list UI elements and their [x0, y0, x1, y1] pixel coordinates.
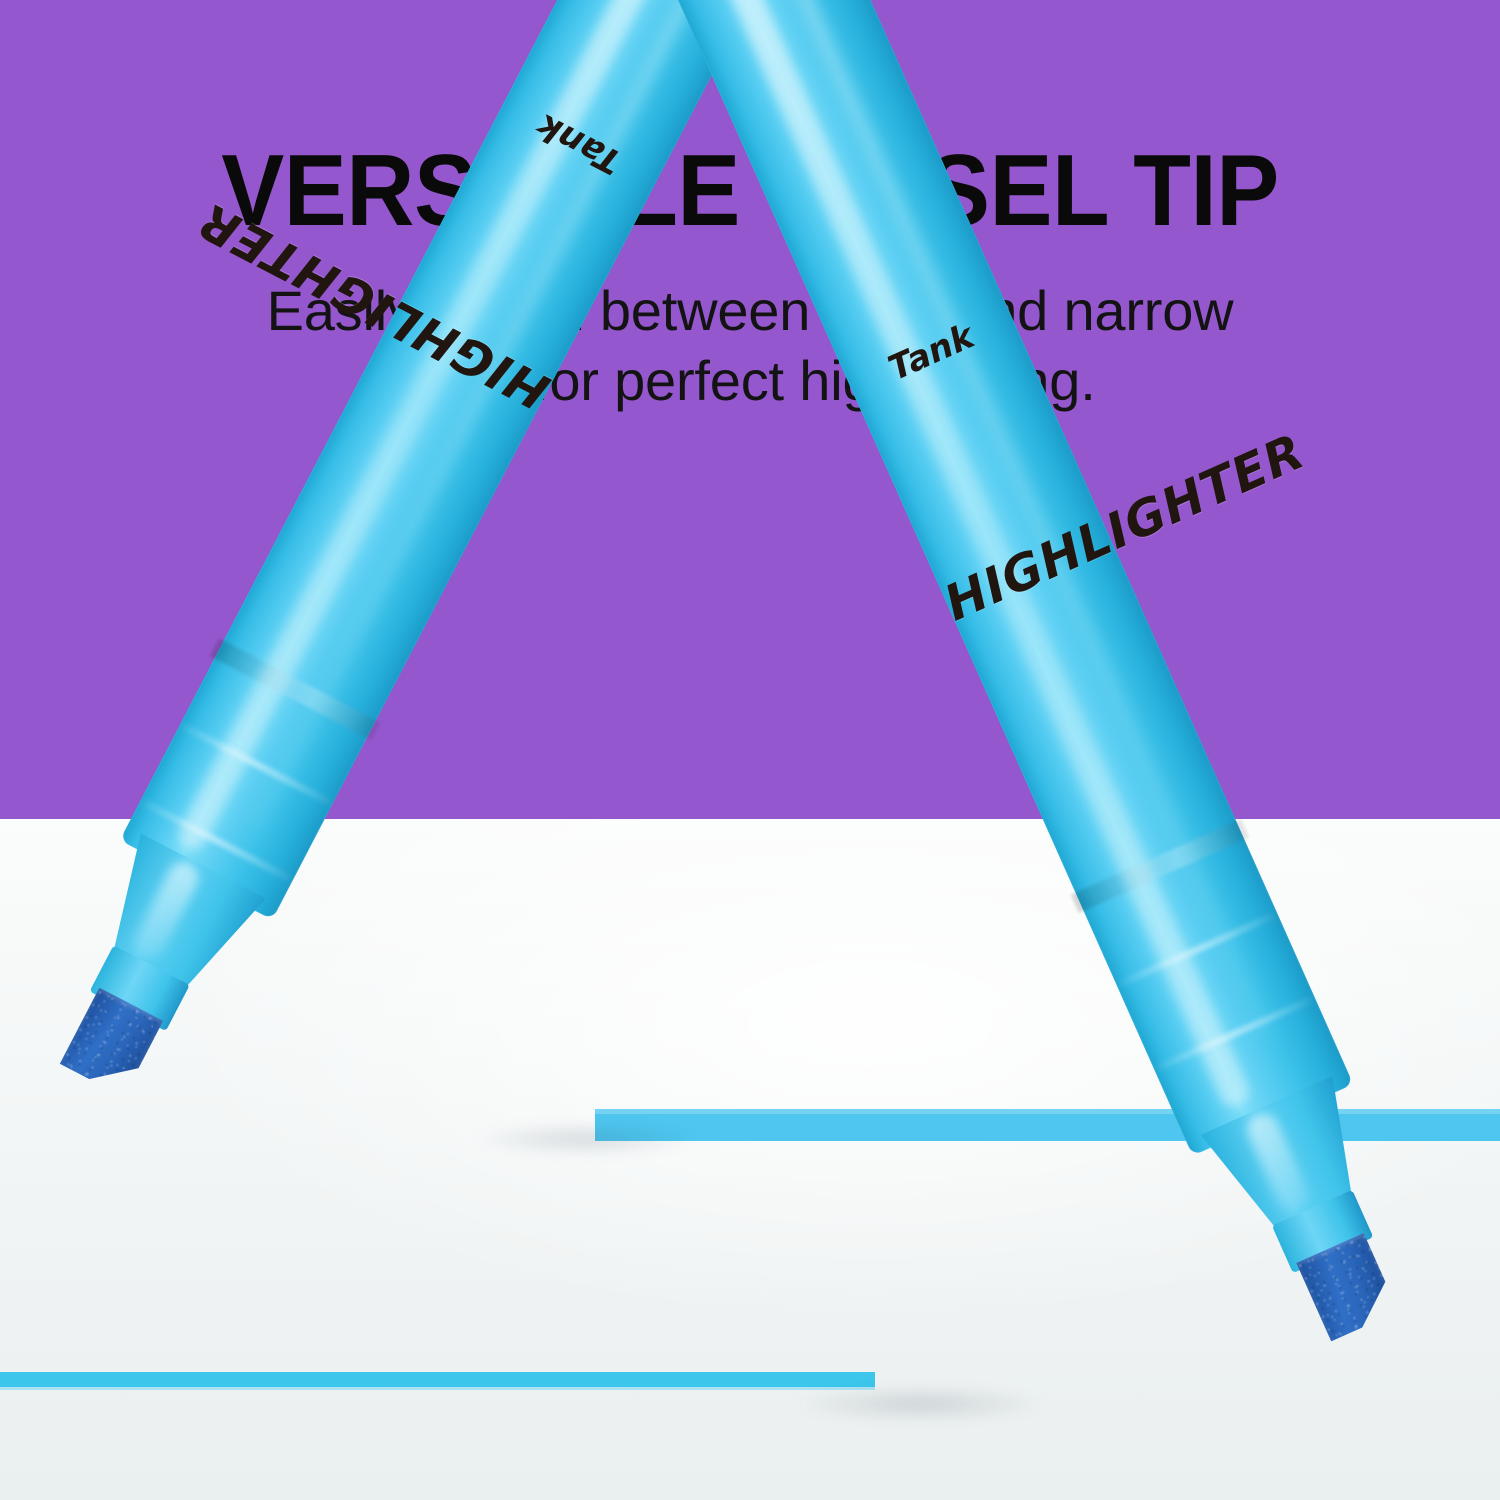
right-nib-shadow — [790, 1386, 1050, 1422]
wide-highlight-stroke — [595, 1109, 1500, 1141]
narrow-highlight-stroke — [0, 1372, 875, 1387]
left-nib-shadow — [470, 1122, 700, 1156]
product-feature-image: VERSATILE CHISEL TIP Easily switch betwe… — [0, 0, 1500, 1500]
left-pen-shoulder-gloss — [128, 857, 203, 963]
